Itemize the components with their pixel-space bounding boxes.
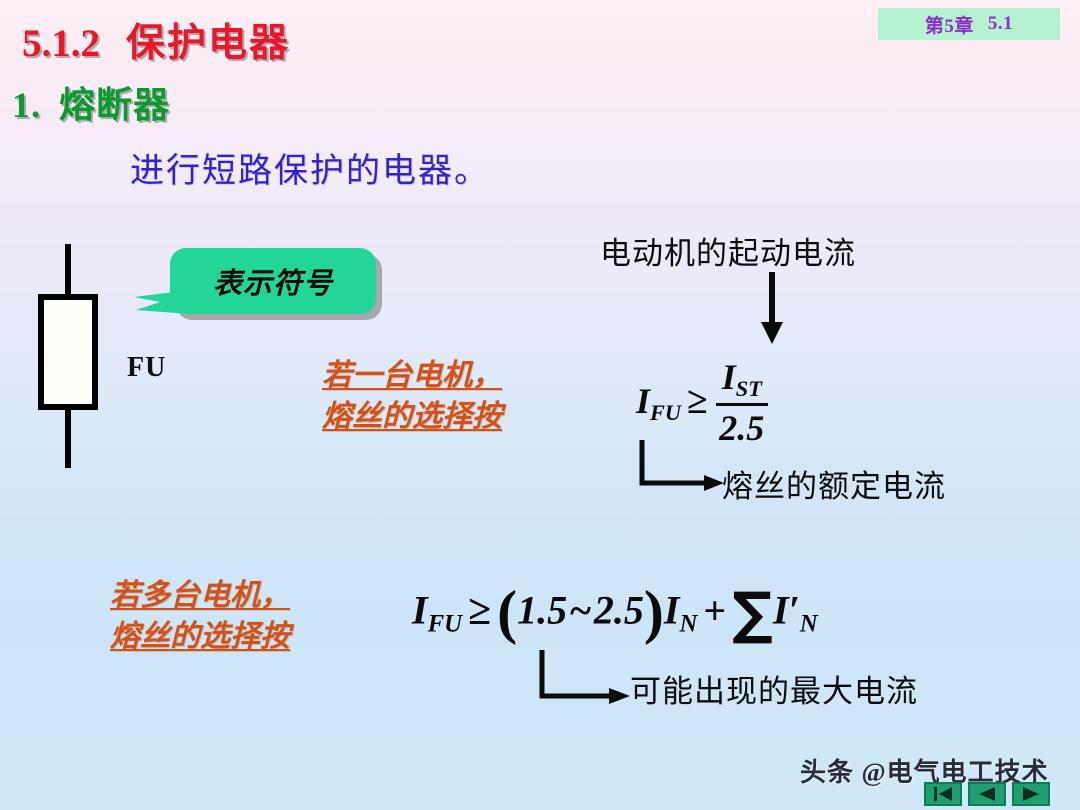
formula2-coeff-low: 1.5 — [517, 588, 567, 633]
formula2-rated-sub: N — [679, 611, 697, 638]
formula2-lhs-sub: FU — [428, 611, 462, 638]
chapter-badge-section: 5.1 — [988, 13, 1013, 35]
formula2-close-paren: ) — [644, 579, 664, 645]
formula1-numerator-sub: ST — [736, 376, 762, 401]
formula2-lhs-symbol: I — [412, 588, 428, 633]
note-single-motor-line-1: 若一台电机， — [322, 355, 502, 396]
formula2-rated-symbol: I — [664, 588, 680, 633]
note-multi-motor: 若多台电机， 熔丝的选择按 — [110, 575, 290, 658]
subtitle-text: 进行短路保护的电器。 — [130, 143, 490, 192]
formula2-sigma-icon: ∑ — [732, 581, 773, 647]
formula1-relation: ≥ — [681, 380, 714, 422]
formula1-fraction: IST2.5 — [716, 356, 768, 449]
section-heading: 1.熔断器 — [12, 76, 170, 128]
callout-bubble: 表示符号 — [170, 248, 376, 314]
fuse-designator-label: FU — [127, 352, 166, 384]
formula1-numerator: IST — [716, 356, 768, 406]
chapter-badge-chapter: 第5章 — [925, 11, 974, 38]
section-heading-text: 熔断器 — [59, 85, 170, 125]
formula1-lhs-sub: FU — [650, 400, 681, 425]
callout-label: 表示符号 — [213, 260, 333, 302]
formula-multi-motor: IFU≥(1.5~2.5)IN+∑I′N — [412, 578, 818, 647]
formula2-sum-symbol: I — [773, 588, 789, 633]
first-slide-button[interactable] — [924, 782, 962, 806]
note-multi-motor-line-2: 熔丝的选择按 — [110, 616, 290, 657]
previous-slide-button[interactable] — [968, 782, 1006, 806]
triangle-left-icon — [976, 786, 998, 802]
formula1-denominator: 2.5 — [716, 406, 768, 449]
fuse-symbol-icon — [30, 244, 110, 468]
note-multi-motor-line-1: 若多台电机， — [110, 575, 290, 616]
presentation-slide: 第5章 5.1 5.1.2保护电器 1.熔断器 进行短路保护的电器。 FU 表示… — [0, 0, 1080, 810]
formula2-relation: ≥ — [462, 588, 497, 634]
page-title: 5.1.2保护电器 — [22, 12, 290, 68]
note-single-motor: 若一台电机， 熔丝的选择按 — [322, 355, 502, 438]
section-heading-number: 1. — [12, 85, 41, 125]
formula2-plus: + — [697, 588, 732, 633]
note-single-motor-line-2: 熔丝的选择按 — [322, 396, 502, 437]
next-slide-button[interactable] — [1012, 782, 1050, 806]
formula1-numerator-symbol: I — [722, 357, 736, 397]
chapter-badge: 第5章 5.1 — [878, 8, 1060, 40]
down-arrow-icon — [752, 270, 792, 346]
fuse-body-rect — [38, 294, 98, 410]
formula2-coeff-high: 2.5 — [594, 588, 644, 633]
formula1-lhs-symbol: I — [636, 381, 650, 421]
elbow-arrow-max-icon — [536, 648, 634, 710]
formula2-coeff-tilde: ~ — [567, 588, 594, 633]
symbol-callout: 表示符号 — [170, 248, 376, 314]
caption-start-current: 电动机的起动电流 — [600, 228, 856, 273]
formula2-open-paren: ( — [497, 579, 517, 645]
caption-max-current: 可能出现的最大电流 — [630, 666, 918, 711]
formula2-sum-sub: N — [800, 611, 818, 638]
triangle-right-icon — [1020, 786, 1042, 802]
formula2-sum-prime: ′ — [789, 588, 800, 633]
page-title-number: 5.1.2 — [22, 22, 100, 65]
formula-single-motor: IFU≥IST2.5 — [636, 358, 770, 451]
skip-back-icon — [932, 786, 954, 802]
slide-navigation-bar — [924, 782, 1050, 806]
page-title-text: 保护电器 — [126, 22, 290, 65]
caption-rated-current: 熔丝的额定电流 — [722, 461, 946, 506]
